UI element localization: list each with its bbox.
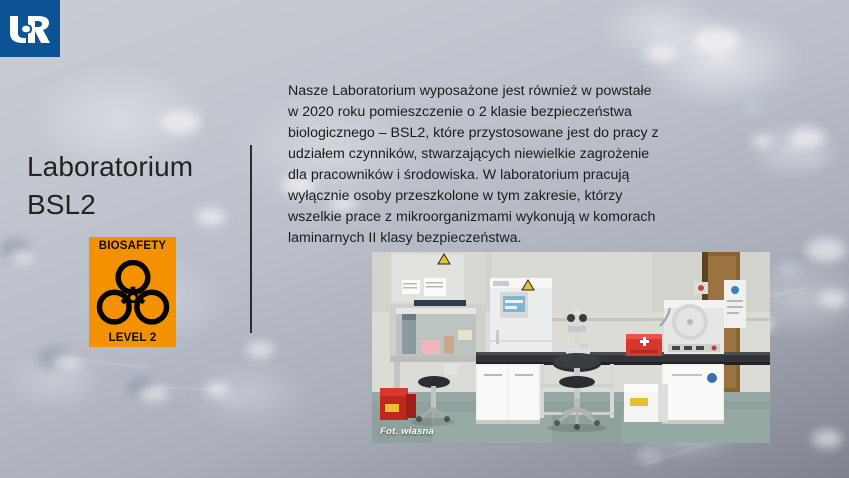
laboratory-photo: Fot. własna xyxy=(372,252,770,443)
background-droplet xyxy=(206,382,230,397)
background-droplet xyxy=(246,342,274,358)
presentation-slide: Laboratorium BSL2 Nasze Laboratorium wyp… xyxy=(0,0,849,478)
background-droplet xyxy=(128,378,154,396)
laboratory-photo-illustration xyxy=(372,252,770,443)
background-droplet xyxy=(800,150,824,164)
background-droplet xyxy=(636,448,662,463)
page-title: Laboratorium BSL2 xyxy=(27,148,242,224)
background-droplet xyxy=(646,45,676,62)
background-droplet xyxy=(776,262,802,278)
background-droplet xyxy=(0,238,30,260)
biosafety-top-label: BIOSAFETY xyxy=(99,240,167,253)
biohazard-icon xyxy=(94,257,172,329)
background-droplet xyxy=(752,135,772,147)
background-droplet xyxy=(806,238,846,262)
background-droplet xyxy=(160,110,200,134)
ur-logo xyxy=(0,0,60,57)
background-droplet xyxy=(790,128,824,148)
ur-monogram-icon xyxy=(8,14,52,44)
background-droplet xyxy=(812,430,842,448)
background-droplet xyxy=(694,28,740,54)
background-strand xyxy=(150,387,220,390)
vertical-divider xyxy=(250,145,252,333)
photo-caption: Fot. własna xyxy=(380,426,434,437)
background-droplet xyxy=(742,100,764,114)
background-droplet xyxy=(818,290,848,308)
biosafety-level-2-sign: BIOSAFETY xyxy=(89,237,176,347)
background-droplet xyxy=(138,386,168,401)
background-strand xyxy=(60,357,149,369)
biosafety-bottom-label: LEVEL 2 xyxy=(109,332,157,345)
background-droplet xyxy=(52,356,80,370)
background-droplet xyxy=(10,250,34,264)
background-droplet xyxy=(222,392,242,404)
background-droplet xyxy=(38,348,72,370)
body-paragraph: Nasze Laboratorium wyposażone jest równi… xyxy=(288,81,663,249)
